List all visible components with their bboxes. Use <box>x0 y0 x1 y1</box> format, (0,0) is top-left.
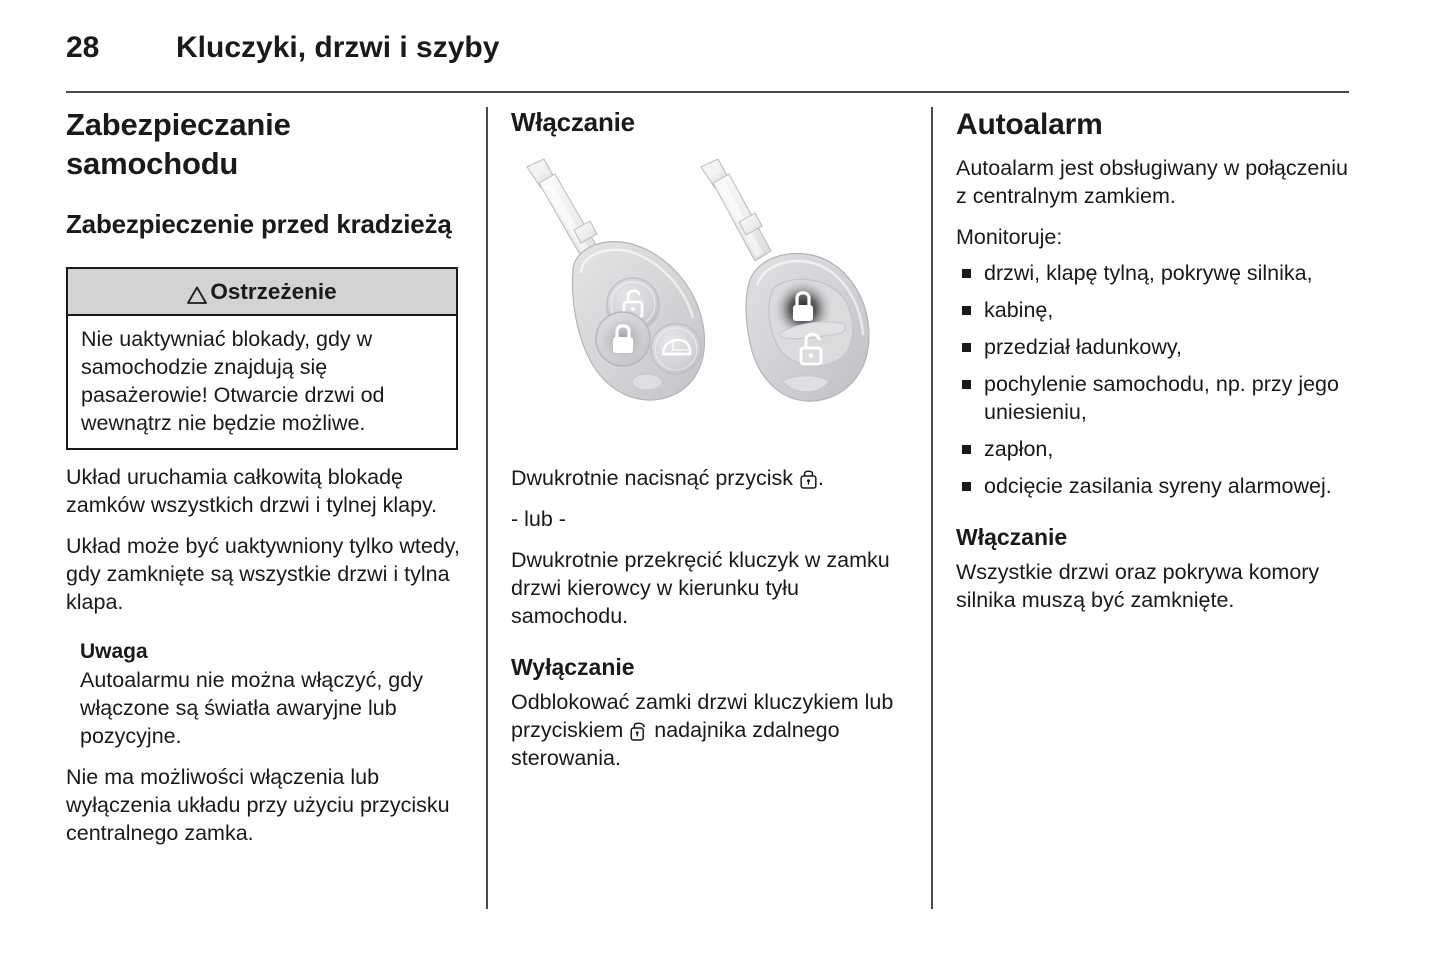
note-block: Uwaga Autoalarmu nie można włączyć, gdy … <box>66 638 466 750</box>
remote-key-fob-illustration <box>511 153 911 458</box>
paragraph-autoalarm-intro: Autoalarm jest obsługiwany w połączeniu … <box>956 154 1356 210</box>
warning-box-text: Nie uaktywniać blokady, gdy w samochodzi… <box>68 316 456 448</box>
instruction-text-after: . <box>818 466 824 490</box>
page-columns: Zabezpieczanie samochodu Zabezpieczenie … <box>0 105 1445 925</box>
list-item: kabinę, <box>956 296 1356 324</box>
list-item-label: zapłon, <box>984 437 1053 461</box>
heading-activation-autoalarm: Włączanie <box>956 522 1356 552</box>
list-item-label: drzwi, klapę tylną, pokrywę silnika, <box>984 261 1313 285</box>
heading-deactivation: Wyłączanie <box>511 652 911 682</box>
column-left: Zabezpieczanie samochodu Zabezpieczenie … <box>66 105 466 847</box>
column-divider-2 <box>931 107 933 909</box>
paragraph-no-central-lock-toggle: Nie ma możliwości włączenia lub wyłączen… <box>66 763 466 847</box>
square-bullet-icon <box>962 306 971 315</box>
page-number: 28 <box>66 28 176 68</box>
warning-triangle-icon <box>187 284 207 302</box>
label-monitors: Monitoruje: <box>956 223 1356 251</box>
note-title: Uwaga <box>80 638 466 665</box>
column-middle: Włączanie <box>511 105 911 772</box>
list-item-label: odcięcie zasilania syreny alarmowej. <box>984 474 1332 498</box>
list-item: drzwi, klapę tylną, pokrywę silnika, <box>956 259 1356 287</box>
list-item-label: kabinę, <box>984 298 1053 322</box>
square-bullet-icon <box>962 482 971 491</box>
chapter-title: Kluczyki, drzwi i szyby <box>176 28 499 68</box>
page-header: 28 Kluczyki, drzwi i szyby <box>66 28 1351 90</box>
paragraph-central-locking: Układ uruchamia całkowitą blokadę zamków… <box>66 463 466 519</box>
warning-box-header: Ostrzeżenie <box>68 269 456 316</box>
heading-activation: Włączanie <box>511 105 911 139</box>
instruction-unlock-doors: Odblokować zamki drzwi kluczykiem lub pr… <box>511 688 911 772</box>
square-bullet-icon <box>962 343 971 352</box>
instruction-text-before: Dwukrotnie nacisnąć przycisk <box>511 466 799 490</box>
warning-box-label: Ostrzeżenie <box>210 279 336 305</box>
list-item: zapłon, <box>956 435 1356 463</box>
section-title-autoalarm: Autoalarm <box>956 105 1356 144</box>
list-item-label: przedział ładunkowy, <box>984 335 1182 359</box>
list-item: odcięcie zasilania syreny alarmowej. <box>956 472 1356 500</box>
list-item: przedział ładunkowy, <box>956 333 1356 361</box>
lock-icon <box>800 468 817 488</box>
list-item: pochylenie samochodu, np. przy jego unie… <box>956 370 1356 426</box>
key-fob-right <box>701 159 869 401</box>
instruction-turn-key-twice: Dwukrotnie przekręcić kluczyk w zamku dr… <box>511 546 911 630</box>
key-fob-left <box>527 159 704 400</box>
column-divider-1 <box>486 107 488 909</box>
note-text: Autoalarmu nie można włączyć, gdy włączo… <box>80 666 466 750</box>
header-rule <box>66 91 1349 93</box>
list-item-label: pochylenie samochodu, np. przy jego unie… <box>984 372 1339 424</box>
column-right: Autoalarm Autoalarm jest obsługiwany w p… <box>956 105 1356 614</box>
fob-left-tailgate-button <box>651 324 701 374</box>
paragraph-doors-closed: Wszystkie drzwi oraz pokrywa komory siln… <box>956 558 1356 614</box>
square-bullet-icon <box>962 380 971 389</box>
square-bullet-icon <box>962 269 971 278</box>
or-separator: - lub - <box>511 505 911 533</box>
warning-box: Ostrzeżenie Nie uaktywniać blokady, gdy … <box>66 267 458 450</box>
section-title-vehicle-security: Zabezpieczanie samochodu <box>66 105 466 183</box>
monitored-items-list: drzwi, klapę tylną, pokrywę silnika, kab… <box>956 259 1356 500</box>
subsection-title-anti-theft: Zabezpieczenie przed kradzieżą <box>66 207 466 241</box>
instruction-press-lock-twice: Dwukrotnie nacisnąć przycisk . <box>511 464 911 492</box>
fob-left-lock-button <box>596 312 650 366</box>
paragraph-activation-condition: Układ może być uaktywniony tylko wtedy, … <box>66 532 466 616</box>
square-bullet-icon <box>962 445 971 454</box>
unlock-icon <box>630 720 647 740</box>
